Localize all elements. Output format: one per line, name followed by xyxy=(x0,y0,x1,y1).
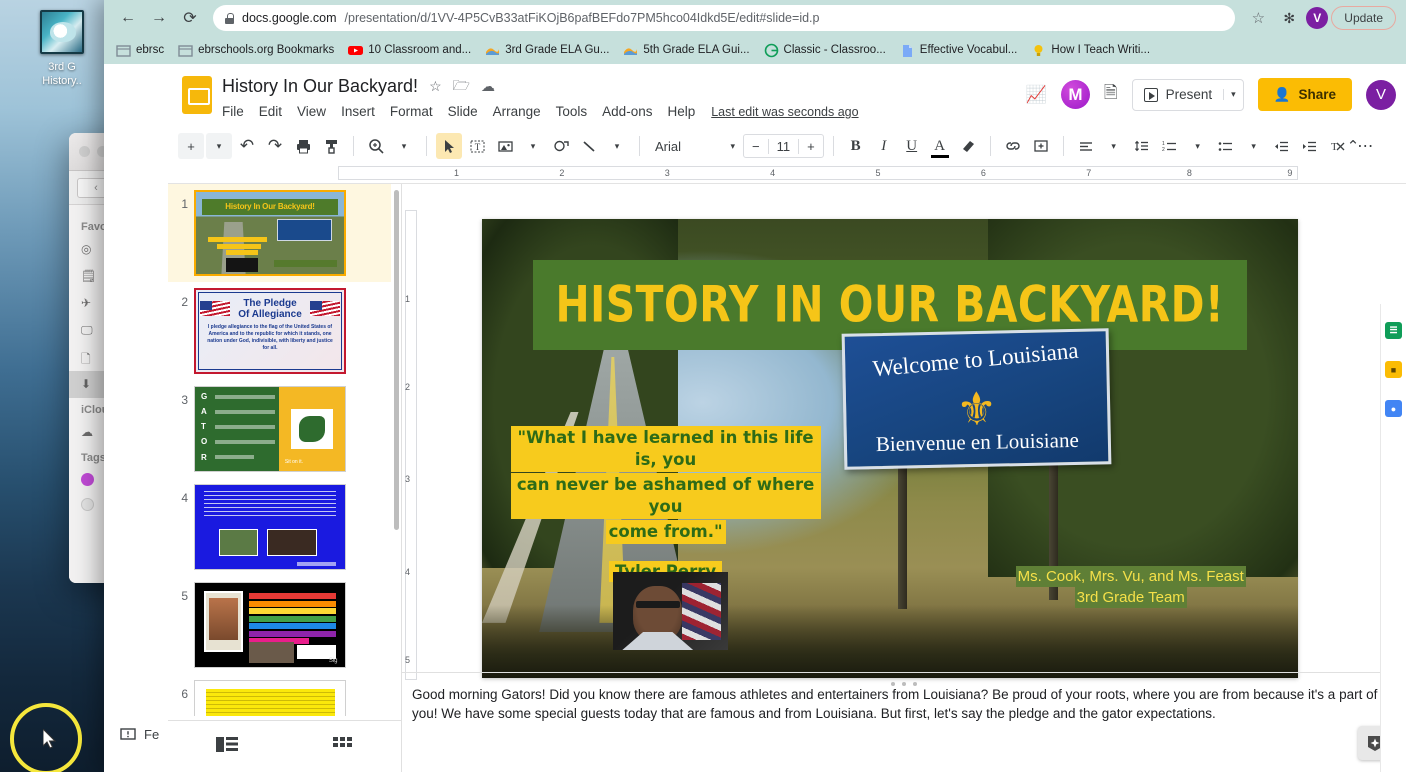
quote-line: "What I have learned in this life is, yo… xyxy=(511,426,821,472)
toolbar-divider xyxy=(353,136,354,156)
extension-badge-icon[interactable]: M xyxy=(1061,80,1090,109)
welcome-sign-top-text: Welcome to Louisiana xyxy=(844,336,1106,386)
present-button[interactable]: Present xyxy=(1133,87,1224,102)
vruler-number: 3 xyxy=(405,474,410,484)
bookmark-label: 3rd Grade ELA Gu... xyxy=(505,44,609,56)
slide-thumbnail-preview: History In Our Backyard! xyxy=(194,190,346,276)
chrome-update-button[interactable]: Update xyxy=(1331,6,1396,30)
vruler-number: 5 xyxy=(405,655,410,665)
thumb-louisiana-sign xyxy=(277,219,332,241)
thumb-photo-left xyxy=(219,529,258,557)
new-slide-button[interactable]: + xyxy=(178,133,204,159)
team-credit-line: 3rd Grade Team xyxy=(1075,587,1187,608)
font-family-value: Arial xyxy=(655,139,681,154)
welcome-sign-bottom-text: Bienvenue en Louisiane xyxy=(846,428,1107,458)
applications-icon: ✈ xyxy=(81,296,98,311)
bookmark-label: How I Teach Writi... xyxy=(1051,44,1150,56)
toolbar-divider xyxy=(639,136,640,156)
thumb-credit-line xyxy=(297,562,336,566)
page-content: History In Our Backyard! ☆ 🗁 ☁ File Edit… xyxy=(104,64,1406,772)
maps-icon[interactable]: ● xyxy=(1385,400,1402,417)
menu-format[interactable]: Format xyxy=(390,104,433,119)
select-cursor-icon[interactable] xyxy=(436,133,462,159)
slide-thumbnail-list: 1 History In Our Backyard! xyxy=(168,184,391,716)
share-button[interactable]: 👤 Share xyxy=(1258,78,1352,111)
present-options-caret[interactable]: ▾ xyxy=(1223,89,1243,100)
present-label: Present xyxy=(1166,87,1213,102)
speaker-notes-pane[interactable]: Good morning Gators! Did you know there … xyxy=(402,672,1406,772)
bulleted-list-icon[interactable] xyxy=(1213,133,1239,159)
thumb-footer-text: Sit on it. xyxy=(285,459,303,465)
bookmark-item[interactable]: ebrschools.org Bookmarks xyxy=(172,40,340,61)
toolbar-divider xyxy=(1063,136,1064,156)
thumb-photo-right xyxy=(267,529,317,557)
ruler-number: 8 xyxy=(1187,168,1192,178)
lock-icon xyxy=(225,13,234,24)
current-slide[interactable]: History In Our Backyard! Welcome to Loui… xyxy=(482,219,1298,678)
tyler-perry-photo[interactable] xyxy=(613,572,729,650)
thumb-highlight-bar xyxy=(249,593,336,599)
thumb-photo xyxy=(226,258,259,272)
present-play-icon xyxy=(1144,88,1158,102)
bookmark-label: ebrsc xyxy=(136,44,164,56)
text-color-button[interactable]: A xyxy=(927,133,953,159)
text-box-icon[interactable]: T xyxy=(464,133,490,159)
filmstrip-view-icon[interactable] xyxy=(216,736,238,758)
align-icon[interactable] xyxy=(1073,133,1099,159)
menu-bar: File Edit View Insert Format Slide Arran… xyxy=(222,104,695,119)
vruler-number: 4 xyxy=(405,567,410,577)
thumb-white-text xyxy=(297,645,336,658)
thumb-letter: T xyxy=(201,422,206,431)
bulleted-list-caret[interactable]: ▾ xyxy=(1241,133,1267,159)
menu-slide[interactable]: Slide xyxy=(448,104,478,119)
vruler-track xyxy=(405,210,417,680)
ruler-number: 2 xyxy=(559,168,564,178)
filmstrip-scrollbar[interactable] xyxy=(394,190,399,530)
feedback-button[interactable]: Fe xyxy=(120,727,159,742)
thumb-title-text: History In Our Backyard! xyxy=(202,199,338,214)
bookmark-item[interactable]: ebrsc xyxy=(110,40,170,61)
thumb-line xyxy=(215,410,275,414)
thumb-team-credit xyxy=(274,260,336,267)
feedback-icon xyxy=(120,728,136,742)
cloud-icon: ☁ xyxy=(81,425,98,440)
vruler-number: 1 xyxy=(405,294,410,304)
speaker-notes-text: Good morning Gators! Did you know there … xyxy=(412,687,1377,721)
thumb-gator-image xyxy=(291,409,333,449)
classroom-icon xyxy=(764,43,779,58)
ruler-number: 1 xyxy=(454,168,459,178)
zoom-caret[interactable]: ▾ xyxy=(391,133,417,159)
thumb-text-block xyxy=(204,491,336,520)
thumb-quote-line xyxy=(226,250,259,255)
thumb-highlight-bar xyxy=(249,631,336,637)
menu-arrange[interactable]: Arrange xyxy=(493,104,541,119)
ruler-track: 1 2 3 4 5 6 7 8 9 xyxy=(338,166,1298,180)
thumb-pledge-body: I pledge allegiance to the flag of the U… xyxy=(205,324,335,352)
slide-thumbnail-2[interactable]: 2 The Pledge Of Allegiance I p xyxy=(168,282,391,380)
thumb-line xyxy=(215,440,275,444)
editor-workspace: 1 History In Our Backyard! xyxy=(168,184,1406,772)
thumb-pledge-heading: The Pledge Of Allegiance xyxy=(196,298,344,320)
ruler-number: 6 xyxy=(981,168,986,178)
comment-icon[interactable]: 🗎 xyxy=(1104,80,1118,109)
fleur-de-lis-icon: ⚜ xyxy=(955,386,997,433)
thumb-line xyxy=(215,395,275,399)
side-apps-rail: ☰ ■ ● xyxy=(1380,304,1406,772)
formatting-toolbar: + ▾ ↶ ↷ ▾ T ▾ ▾ xyxy=(168,130,1406,162)
url-path: /presentation/d/1VV-4P5CvB33atFiKOjB6paf… xyxy=(345,11,820,25)
folder-icon xyxy=(178,43,193,58)
purple-tag-dot xyxy=(81,473,94,486)
screen-root: 3rd G History.. ‹ Favo ◎ 🗒 ✈ 🖵 🗋 ⬇ iClou… xyxy=(0,0,1406,772)
bookmark-item[interactable]: Classic - Classroo... xyxy=(758,40,892,61)
docs-icon xyxy=(900,43,915,58)
slide-canvas-area: 1 2 3 4 5 xyxy=(402,184,1406,772)
chrome-browser-window: ← → ⟳ docs.google.com/presentation/d/1VV… xyxy=(104,0,1406,772)
shape-icon[interactable] xyxy=(548,133,574,159)
slide-thumbnail-3[interactable]: 3 G A T O R xyxy=(168,380,391,478)
url-host: docs.google.com xyxy=(242,11,337,25)
font-size-stepper[interactable]: − 11 + xyxy=(743,134,824,158)
menu-insert[interactable]: Insert xyxy=(341,104,375,119)
louisiana-welcome-sign: Welcome to Louisiana ⚜ Bienvenue en Loui… xyxy=(841,329,1111,471)
activity-trend-icon[interactable]: 📈 xyxy=(1026,85,1047,105)
add-comment-icon[interactable] xyxy=(1028,133,1054,159)
present-button-group[interactable]: Present ▾ xyxy=(1132,79,1244,111)
bookmark-label: Effective Vocabul... xyxy=(920,44,1018,56)
sheets-icon[interactable]: ☰ xyxy=(1385,322,1402,339)
menu-help[interactable]: Help xyxy=(667,104,695,119)
ruler-number: 7 xyxy=(1086,168,1091,178)
document-title-row: History In Our Backyard! ☆ 🗁 ☁ xyxy=(222,74,859,99)
grid-view-icon[interactable] xyxy=(333,736,353,758)
toolbar-divider xyxy=(426,136,427,156)
insert-image-icon[interactable] xyxy=(492,133,518,159)
slide-thumbnail-4[interactable]: 4 xyxy=(168,478,391,576)
airdrop-icon: ◎ xyxy=(81,242,98,257)
slide-number: 3 xyxy=(168,386,188,407)
downloads-icon: ⬇ xyxy=(81,377,98,392)
last-edit-status[interactable]: Last edit was seconds ago xyxy=(711,105,858,119)
menu-tools[interactable]: Tools xyxy=(556,104,588,119)
slide-thumbnail-preview: G A T O R Sit o xyxy=(194,386,346,472)
folder-icon xyxy=(116,43,131,58)
photo-glasses xyxy=(636,601,680,608)
link-icon[interactable] xyxy=(1000,133,1026,159)
thumb-highlight-bar xyxy=(249,608,336,614)
horizontal-ruler[interactable]: 1 2 3 4 5 6 7 8 9 xyxy=(168,162,1406,184)
indent-increase-icon[interactable] xyxy=(1297,133,1323,159)
move-to-folder-icon[interactable]: 🗁 xyxy=(453,75,470,99)
feedback-label: Fe xyxy=(144,727,159,742)
paint-format-icon[interactable] xyxy=(318,133,344,159)
slides-icon xyxy=(485,43,500,58)
extensions-icon[interactable]: ✻ xyxy=(1275,4,1303,32)
account-avatar[interactable]: V xyxy=(1366,80,1396,110)
quote-line: can never be ashamed of where you xyxy=(511,473,821,519)
header-actions: 📈 M 🗎 Present ▾ 👤 Share xyxy=(1026,78,1396,111)
thumb-letter: A xyxy=(201,407,207,416)
slide-number: 5 xyxy=(168,582,188,603)
page-title[interactable]: History In Our Backyard! xyxy=(222,76,418,97)
undo-button[interactable]: ↶ xyxy=(234,133,260,159)
slides-header: History In Our Backyard! ☆ 🗁 ☁ File Edit… xyxy=(168,64,1406,130)
youtube-icon xyxy=(348,43,363,58)
thumb-highlight-bar xyxy=(249,616,336,622)
forward-button[interactable]: → xyxy=(145,4,173,32)
slide-filmstrip[interactable]: 1 History In Our Backyard! xyxy=(168,184,402,772)
keep-icon[interactable]: ■ xyxy=(1385,361,1402,378)
desktop-file-label-line2: History.. xyxy=(14,74,110,88)
thumb-highlight-bar xyxy=(249,601,336,607)
print-icon[interactable] xyxy=(290,133,316,159)
slide-number: 2 xyxy=(168,288,188,309)
bulb-icon xyxy=(1031,43,1046,58)
left-blank-gutter xyxy=(104,184,168,772)
slide-thumbnail-5[interactable]: 5 xyxy=(168,576,391,674)
line-spacing-icon[interactable] xyxy=(1129,133,1155,159)
slide-title-text: History In Our Backyard! xyxy=(555,276,1224,334)
thumb-line xyxy=(215,425,275,429)
svg-text:2: 2 xyxy=(1162,147,1165,153)
desktop-file-label-line1: 3rd G xyxy=(14,60,110,74)
thumb-line xyxy=(215,455,254,459)
documents-icon: 🗋 xyxy=(81,350,98,365)
slide-thumbnail-preview xyxy=(194,484,346,570)
slides-icon xyxy=(623,43,638,58)
new-slide-caret[interactable]: ▾ xyxy=(206,133,232,159)
menu-view[interactable]: View xyxy=(297,104,326,119)
recents-icon: 🗒 xyxy=(81,269,98,284)
sign-post-left xyxy=(898,462,907,609)
line-caret[interactable]: ▾ xyxy=(604,133,630,159)
address-bar[interactable]: docs.google.com/presentation/d/1VV-4P5Cv… xyxy=(213,5,1235,31)
photo-flag-background xyxy=(682,583,721,639)
thumb-letter: R xyxy=(201,453,207,462)
font-size-increase[interactable]: + xyxy=(799,139,823,154)
slide-thumbnail-6[interactable]: 6 xyxy=(168,674,391,716)
ruler-number: 9 xyxy=(1287,168,1292,178)
thumb-signature: Sig xyxy=(329,658,338,664)
vertical-ruler[interactable]: 1 2 3 4 5 xyxy=(402,184,420,672)
menu-edit[interactable]: Edit xyxy=(259,104,282,119)
numbered-list-icon[interactable]: 12 xyxy=(1157,133,1183,159)
bookmark-label: ebrschools.org Bookmarks xyxy=(198,44,334,56)
thumb-photo xyxy=(249,642,294,663)
share-person-icon: 👤 xyxy=(1274,87,1291,103)
share-label: Share xyxy=(1298,87,1336,102)
font-size-value[interactable]: 11 xyxy=(768,139,800,154)
highlight-pen-icon[interactable] xyxy=(955,133,981,159)
ruler-number: 4 xyxy=(770,168,775,178)
bold-button[interactable]: B xyxy=(843,133,869,159)
bookmark-item[interactable]: 10 Classroom and... xyxy=(342,40,477,61)
chevron-down-icon: ▾ xyxy=(730,141,735,152)
bookmarks-bar: ebrsc ebrschools.org Bookmarks 10 Classr… xyxy=(104,36,1406,64)
svg-text:T: T xyxy=(474,142,480,152)
toolbar-divider xyxy=(833,136,834,156)
slide-thumbnail-preview: The Pledge Of Allegiance I pledge allegi… xyxy=(194,288,346,374)
quote-line: come from." xyxy=(606,520,726,544)
thumb-letter: G xyxy=(201,392,207,401)
thumb-yellow-text-block xyxy=(206,689,335,716)
bookmark-label: 5th Grade ELA Gui... xyxy=(643,44,749,56)
view-mode-bar xyxy=(168,720,401,772)
line-icon[interactable] xyxy=(576,133,602,159)
ruler-number: 3 xyxy=(665,168,670,178)
slide-thumbnail-preview: Sig xyxy=(194,582,346,668)
close-icon[interactable] xyxy=(79,146,90,157)
bookmark-item[interactable]: 5th Grade ELA Gui... xyxy=(617,40,755,61)
slide-number: 1 xyxy=(168,190,188,211)
thumb-quote-line xyxy=(208,237,267,242)
bookmark-label: Classic - Classroo... xyxy=(784,44,886,56)
desktop-file-icon[interactable]: 3rd G History.. xyxy=(14,6,110,88)
bookmark-label: 10 Classroom and... xyxy=(368,44,471,56)
thumb-quote-line xyxy=(217,244,261,249)
thumb-letter: O xyxy=(201,437,207,446)
indent-decrease-icon[interactable] xyxy=(1269,133,1295,159)
underline-button[interactable]: U xyxy=(899,133,925,159)
menu-addons[interactable]: Add-ons xyxy=(602,104,652,119)
slide-number: 4 xyxy=(168,484,188,505)
background-foreground-grass xyxy=(482,605,1298,678)
grey-tag-dot xyxy=(81,498,94,511)
desktop-file-thumbnail xyxy=(40,10,84,54)
redo-button[interactable]: ↷ xyxy=(262,133,288,159)
quote-textbox[interactable]: "What I have learned in this life is, yo… xyxy=(511,426,821,582)
bookmark-item[interactable]: How I Teach Writi... xyxy=(1025,40,1156,61)
thumb-player-card xyxy=(204,591,243,651)
desktop-folder-icon: 🖵 xyxy=(81,323,98,338)
font-family-select[interactable]: Arial ▾ xyxy=(649,139,741,154)
star-icon[interactable]: ☆ xyxy=(429,78,442,95)
slides-logo-icon xyxy=(182,76,212,114)
numbered-list-caret[interactable]: ▾ xyxy=(1185,133,1211,159)
image-caret[interactable]: ▾ xyxy=(520,133,546,159)
google-slides-app: History In Our Backyard! ☆ 🗁 ☁ File Edit… xyxy=(168,64,1406,772)
chrome-profile-avatar[interactable]: V xyxy=(1306,7,1328,29)
svg-text:T: T xyxy=(1331,141,1338,153)
align-caret[interactable]: ▾ xyxy=(1101,133,1127,159)
bookmark-star-icon[interactable]: ☆ xyxy=(1244,4,1272,32)
reload-button[interactable]: ⟳ xyxy=(176,4,204,32)
thumb-highlight-bar xyxy=(249,623,336,629)
font-size-decrease[interactable]: − xyxy=(744,139,768,154)
bookmark-item[interactable]: Effective Vocabul... xyxy=(894,40,1024,61)
chrome-toolbar: ← → ⟳ docs.google.com/presentation/d/1VV… xyxy=(104,0,1406,36)
mouse-cursor-icon xyxy=(43,729,57,749)
collapse-toolbar-button[interactable]: ⌃ xyxy=(1340,133,1366,159)
team-credit-line: Ms. Cook, Mrs. Vu, and Ms. Feast xyxy=(1016,566,1246,587)
team-credit-textbox[interactable]: Ms. Cook, Mrs. Vu, and Ms. Feast 3rd Gra… xyxy=(992,566,1269,608)
bookmark-item[interactable]: 3rd Grade ELA Gu... xyxy=(479,40,615,61)
cloud-saved-icon[interactable]: ☁ xyxy=(481,78,495,95)
back-button[interactable]: ← xyxy=(114,4,142,32)
menu-file[interactable]: File xyxy=(222,104,244,119)
vruler-number: 2 xyxy=(405,382,410,392)
ruler-number: 5 xyxy=(875,168,880,178)
slide-number: 6 xyxy=(168,680,188,701)
slide-thumbnail-1[interactable]: 1 History In Our Backyard! xyxy=(168,184,391,282)
zoom-icon[interactable] xyxy=(363,133,389,159)
slide-thumbnail-preview xyxy=(194,680,346,716)
italic-button[interactable]: I xyxy=(871,133,897,159)
toolbar-divider xyxy=(990,136,991,156)
